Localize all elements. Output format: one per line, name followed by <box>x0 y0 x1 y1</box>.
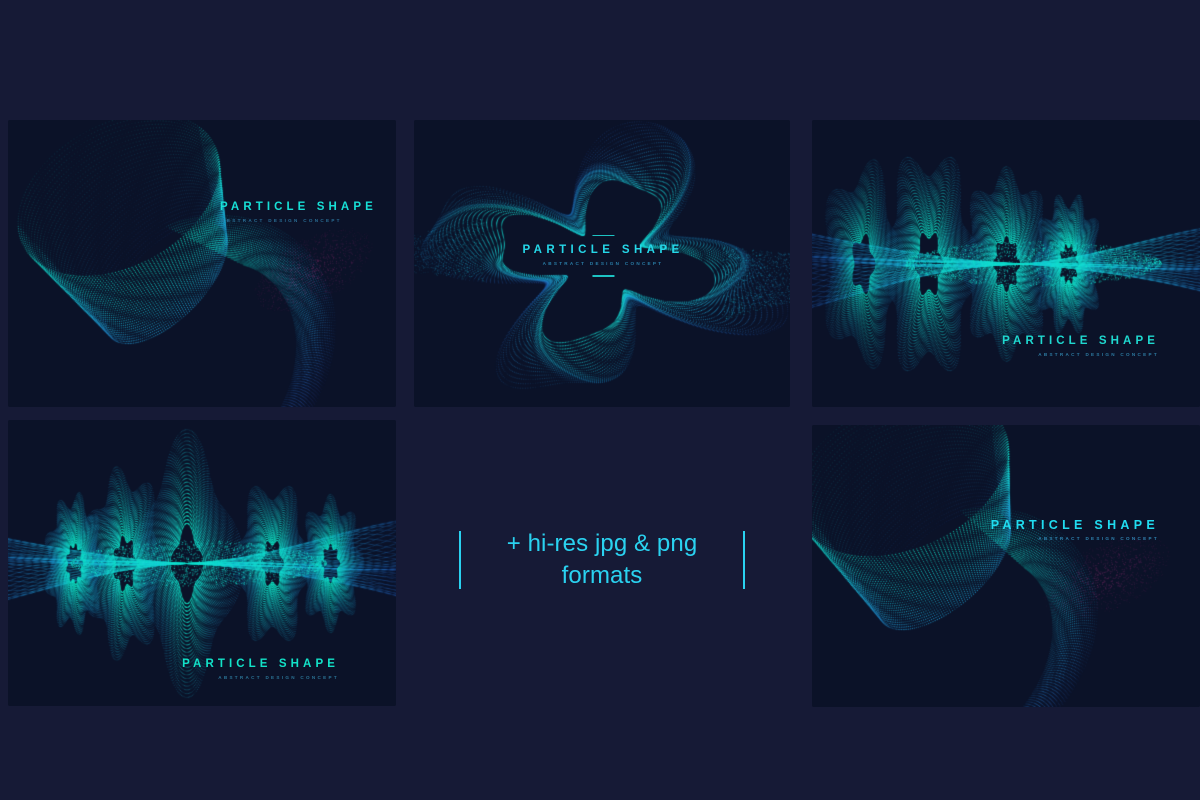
promo-block: + hi-res jpg & png formats <box>414 500 790 620</box>
particle-artwork-funnel-teal <box>8 120 396 407</box>
preview-stage: PARTICLE SHAPE ABSTRACT DESIGN CONCEPT P… <box>0 0 1200 800</box>
promo-bar-right <box>743 531 745 589</box>
particle-artwork-symmetric-wave <box>812 120 1200 407</box>
promo-bar-left <box>459 531 461 589</box>
particle-artwork-star-ring <box>414 120 790 407</box>
particle-artwork-ribbon-scroll <box>812 425 1200 707</box>
preview-panel-particle-shape-funnel-teal[interactable] <box>8 120 396 407</box>
preview-panel-particle-shape-symmetric-burst[interactable] <box>8 420 396 706</box>
promo-text: + hi-res jpg & png formats <box>487 528 717 593</box>
preview-panel-particle-shape-symmetric-wave[interactable] <box>812 120 1200 407</box>
preview-panel-particle-shape-ribbon-scroll[interactable] <box>812 425 1200 707</box>
particle-artwork-symmetric-burst <box>8 420 396 706</box>
preview-panel-particle-shape-star-ring[interactable] <box>414 120 790 407</box>
